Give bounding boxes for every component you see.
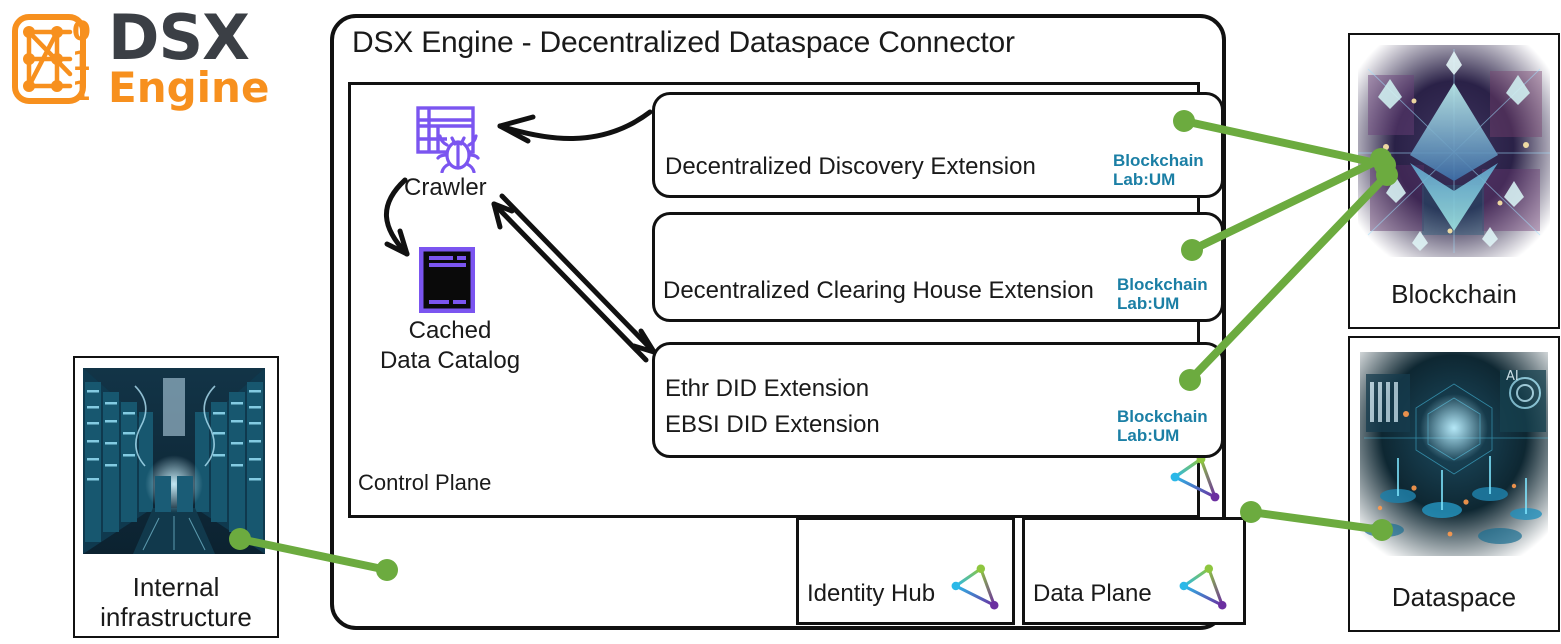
vendor-line1: Blockchain — [1117, 275, 1208, 294]
logo-title: DSX — [108, 10, 308, 66]
cached-data-catalog-label: Cached Data Catalog — [370, 316, 530, 376]
blockchain-caption: Blockchain — [1350, 279, 1558, 309]
vendor-line1: Blockchain — [1113, 151, 1204, 170]
ethr-did-extension-label: Ethr DID Extension — [665, 375, 869, 403]
decentralized-clearing-house-extension-box[interactable]: Decentralized Clearing House Extension B… — [652, 212, 1224, 322]
internal-infrastructure-card[interactable]: Internal infrastructure — [73, 356, 279, 638]
logo-wordmark: DSX Engine — [108, 10, 308, 110]
dsx-engine-logo: 0 1 1 DSX Engine — [8, 8, 308, 112]
internal-caption-line1: Internal — [133, 572, 220, 602]
dataspace-card[interactable]: AI Dataspace — [1348, 336, 1560, 632]
catalog-label-line2: Data Catalog — [380, 347, 520, 374]
identity-hub-box[interactable]: Identity Hub — [796, 517, 1015, 625]
vendor-line2: Lab:UM — [1117, 426, 1179, 445]
diagram-canvas: 0 1 1 DSX Engine DSX Engine - Decentrali… — [0, 0, 1561, 644]
logo-subtitle: Engine — [108, 66, 308, 110]
dataspace-network-image: AI — [1350, 338, 1558, 570]
dataspace-caption: Dataspace — [1350, 582, 1558, 612]
control-plane-label: Control Plane — [358, 470, 491, 496]
dsx-logo-mark-icon: 0 1 1 — [12, 14, 100, 104]
logo-bit-1b: 1 — [72, 76, 91, 104]
vendor-badge-blockchain-lab-um: Blockchain Lab:UM — [1117, 407, 1208, 445]
internal-caption-line2: infrastructure — [100, 602, 252, 632]
blockchain-card[interactable]: Blockchain — [1348, 33, 1560, 329]
vendor-line2: Lab:UM — [1117, 294, 1179, 313]
node-graph-icon — [949, 562, 1003, 612]
catalog-label-line1: Cached — [409, 317, 492, 344]
vendor-badge-blockchain-lab-um: Blockchain Lab:UM — [1113, 151, 1204, 189]
did-extension-box[interactable]: Ethr DID Extension EBSI DID Extension Bl… — [652, 342, 1224, 458]
decentralized-discovery-extension-box[interactable]: Decentralized Discovery Extension Blockc… — [652, 92, 1224, 198]
ebsi-did-extension-label: EBSI DID Extension — [665, 411, 880, 439]
svg-text:AI: AI — [1506, 369, 1519, 384]
identity-hub-label: Identity Hub — [807, 580, 935, 608]
logo-bit-1a: 1 — [72, 46, 91, 77]
engine-title: DSX Engine - Decentralized Dataspace Con… — [352, 26, 1015, 60]
logo-bit-0: 0 — [72, 16, 91, 47]
vendor-line2: Lab:UM — [1113, 170, 1175, 189]
table-bug-crawler-icon — [414, 103, 486, 173]
data-plane-box[interactable]: Data Plane — [1022, 517, 1246, 625]
internal-infrastructure-caption: Internal infrastructure — [75, 572, 277, 632]
data-plane-label: Data Plane — [1033, 580, 1152, 608]
discovery-extension-label: Decentralized Discovery Extension — [665, 153, 1036, 181]
node-graph-icon — [1168, 452, 1224, 504]
cached-data-catalog-icon — [419, 247, 475, 313]
node-graph-icon — [1177, 562, 1231, 612]
vendor-badge-blockchain-lab-um: Blockchain Lab:UM — [1117, 275, 1208, 313]
datacenter-server-room-image — [75, 358, 273, 563]
crawler-label: Crawler — [404, 174, 487, 202]
blockchain-ethereum-image — [1350, 35, 1558, 267]
clearing-house-extension-label: Decentralized Clearing House Extension — [663, 277, 1094, 305]
vendor-line1: Blockchain — [1117, 407, 1208, 426]
